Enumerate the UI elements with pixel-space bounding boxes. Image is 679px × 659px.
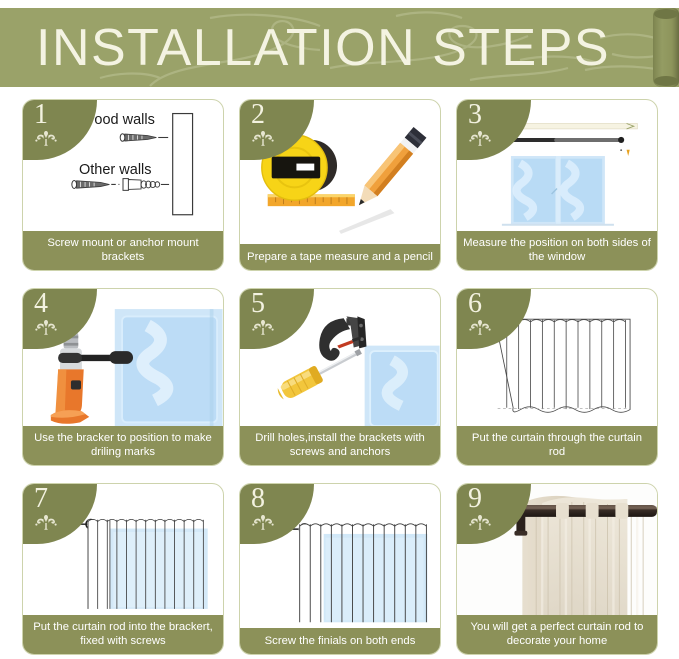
step-5-caption: Drill holes,install the brackets with sc… [240,426,440,465]
step-card-5: 5 [239,288,441,466]
step-8-artwork: 8 [240,484,440,628]
step-card-8: 8 [239,483,441,655]
finial-parts [253,519,279,532]
window-panel [115,309,223,426]
drill-and-window-illustration [23,289,223,426]
screwdriver [275,343,365,402]
step-card-2: 2 [239,99,441,271]
curtain-on-rod-outline [457,289,657,426]
curtain-rod-bar [483,137,625,143]
step-4-caption: Use the bracker to position to make dril… [23,426,223,465]
step-7-caption: Put the curtain rod into the brackert, f… [23,615,223,654]
screw-finials-diagram [240,484,440,628]
curtain-rod-into-bracket-diagram [23,484,223,615]
measure-window-diagram [457,100,657,231]
other-wall-screw [72,180,120,188]
step-card-1: 1 Wood walls Other walls [22,99,224,271]
measurement-markers [484,149,630,156]
tape-measure-and-pencil-illustration [240,100,440,244]
wood-screw [120,134,168,142]
step-5-caption-text: Drill holes,install the brackets with sc… [246,431,434,459]
step-4-artwork: 4 [23,289,223,426]
window-illustration [502,156,614,226]
step-6-artwork: 6 [457,289,657,426]
step-9-caption: You will get a perfect curtain rod to de… [457,615,657,654]
steps-grid: 1 Wood walls Other walls [22,99,662,655]
curtain-grommets [556,503,628,519]
step-card-6: 6 [456,288,658,466]
curtain-outline [495,319,630,412]
step-5-artwork: 5 [240,289,440,426]
step-3-artwork: 3 [457,100,657,231]
step-2-caption: Prepare a tape measure and a pencil [240,244,440,270]
step-9-artwork: 9 [457,484,657,615]
screws-and-wall-diagram [23,100,223,231]
step-1-artwork: 1 Wood walls Other walls [23,100,223,231]
pencil [352,127,426,211]
step-9-caption-text: You will get a perfect curtain rod to de… [463,620,651,648]
tape-measure-case [469,115,486,132]
step-4-caption-text: Use the bracker to position to make dril… [29,431,217,459]
step-7-artwork: 7 [23,484,223,615]
curtain-panels [87,519,209,609]
screwdriver-and-bracket-illustration [240,289,440,426]
step-card-9: 9 [456,483,658,655]
step-card-7: 7 [22,483,224,655]
banner-roll-cap-top [654,9,678,19]
header-banner: INSTALLATION STEPS [0,8,679,87]
step-6-caption: Put the curtain through the curtain rod [457,426,657,465]
wall-anchor [123,179,169,191]
step-2-artwork: 2 [240,100,440,244]
step-card-4: 4 [22,288,224,466]
step-1-caption: Screw mount or anchor mount brackets [23,231,223,270]
banner-roll-cap-bottom [654,76,678,86]
finished-curtain-photo [457,484,657,615]
step-3-caption-text: Measure the position on both sides of th… [463,236,651,264]
step-7-caption-text: Put the curtain rod into the brackert, f… [29,620,217,648]
window-corner [365,346,440,426]
page-title: INSTALLATION STEPS [36,22,610,74]
banner-scroll-roll [653,8,679,87]
curtain-panels [299,524,435,622]
step-8-caption: Screw the finials on both ends [240,628,440,654]
step-card-3: 3 [456,99,658,271]
drill-side-handle [58,351,133,364]
step-3-caption: Measure the position on both sides of th… [457,231,657,270]
